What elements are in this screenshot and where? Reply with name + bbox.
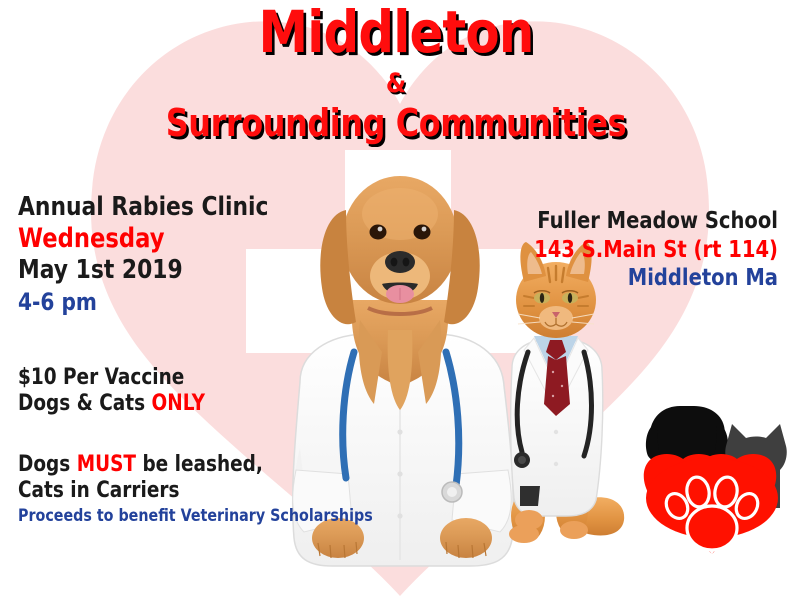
- dog-cat-heart-paw-logo: [636, 388, 788, 558]
- title-subtitle: Surrounding Communities: [63, 103, 728, 145]
- title-main: Middleton: [55, 2, 736, 63]
- carrier-rule-line: Cats in Carriers: [18, 478, 337, 504]
- leash-rule-prefix: Dogs: [18, 452, 77, 477]
- pricing-block: $10 Per Vaccine Dogs & Cats ONLY: [18, 365, 358, 417]
- title-ampersand: &: [55, 69, 736, 99]
- event-day: Wednesday: [18, 224, 295, 254]
- venue-city-state: Middleton Ma: [523, 265, 778, 292]
- venue-name: Fuller Meadow School: [523, 208, 778, 235]
- rules-block: Dogs MUST be leashed, Cats in Carriers P…: [18, 452, 398, 527]
- eligible-animals-prefix: Dogs & Cats: [18, 391, 152, 416]
- leash-rule-highlight: MUST: [77, 452, 136, 477]
- event-heading: Annual Rabies Clinic: [18, 193, 295, 222]
- eligible-animals-highlight: ONLY: [152, 391, 205, 416]
- leash-rule-line: Dogs MUST be leashed,: [18, 452, 337, 478]
- event-time: 4-6 pm: [18, 289, 295, 316]
- flyer-title-block: Middleton & Surrounding Communities: [0, 2, 792, 144]
- location-block: Fuller Meadow School 143 S.Main St (rt 1…: [478, 208, 778, 292]
- leash-rule-suffix: be leashed,: [136, 452, 263, 477]
- rabies-clinic-flyer: Middleton & Surrounding Communities Annu…: [0, 0, 792, 612]
- event-date: May 1st 2019: [18, 256, 295, 285]
- venue-street: 143 S.Main St (rt 114): [523, 237, 778, 264]
- price-line: $10 Per Vaccine: [18, 365, 304, 391]
- eligible-animals-line: Dogs & Cats ONLY: [18, 391, 304, 417]
- event-details-block: Annual Rabies Clinic Wednesday May 1st 2…: [18, 193, 348, 316]
- proceeds-note: Proceeds to benefit Veterinary Scholarsh…: [18, 507, 337, 527]
